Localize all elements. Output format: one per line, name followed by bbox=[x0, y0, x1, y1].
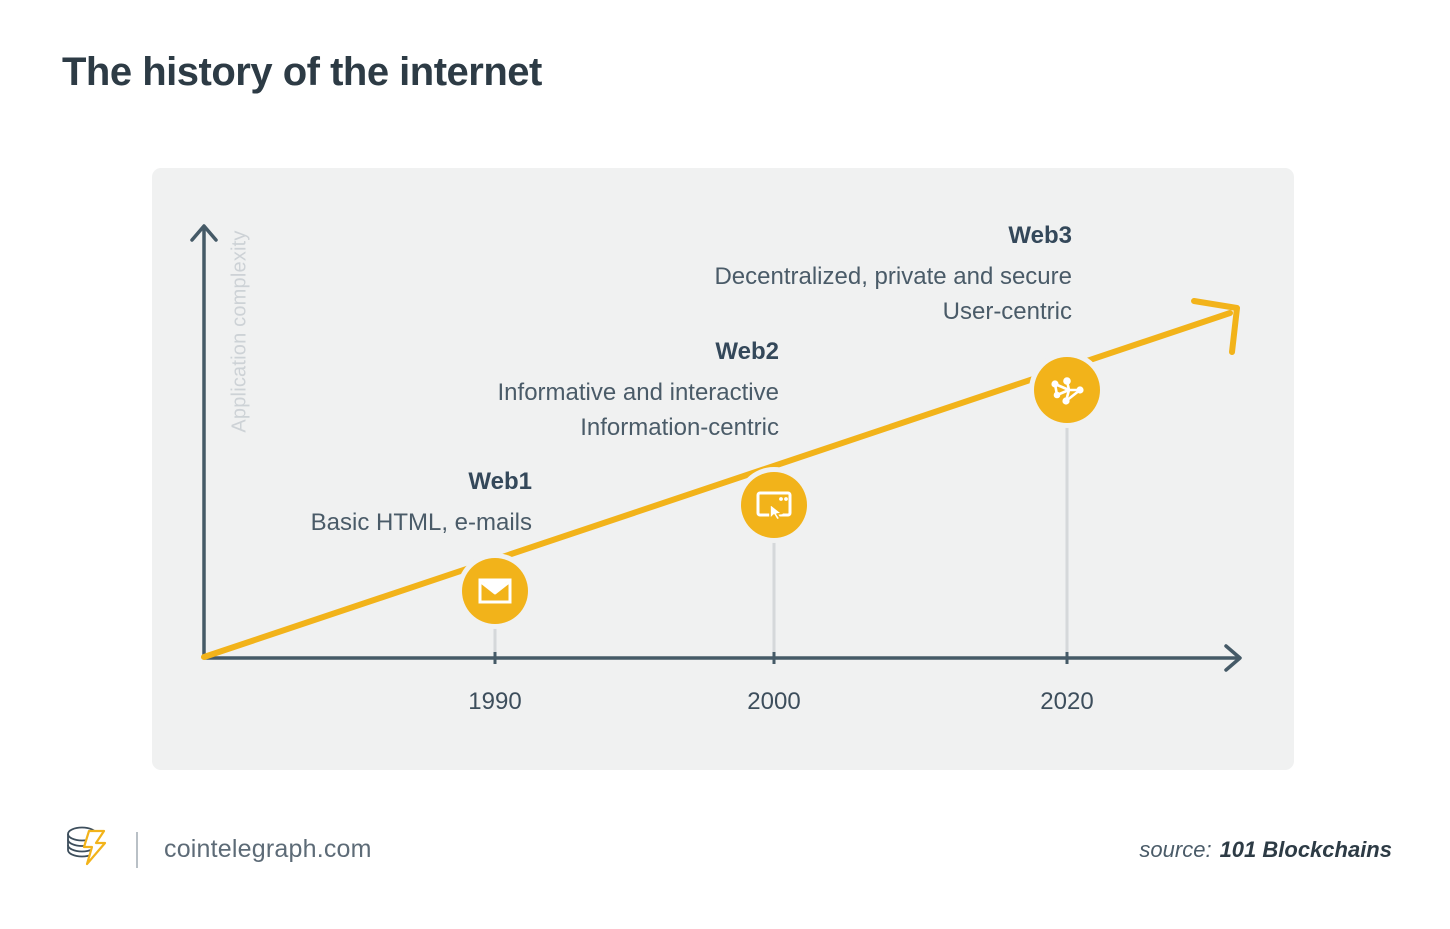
milestone-line-web2-1: Information-centric bbox=[314, 411, 779, 446]
milestone-label-web1: Web1 Basic HTML, e-mails bbox=[92, 468, 532, 541]
milestone-line-web1-0: Basic HTML, e-mails bbox=[92, 506, 532, 541]
milestone-label-web3: Web3 Decentralized, private and secure U… bbox=[552, 222, 1072, 330]
milestone-title-web1: Web1 bbox=[92, 468, 532, 496]
envelope-icon bbox=[478, 578, 512, 604]
x-tick-label-1990: 1990 bbox=[415, 688, 575, 716]
milestone-marker-web3[interactable] bbox=[1034, 357, 1100, 423]
x-tick-label-2000: 2000 bbox=[694, 688, 854, 716]
chart-panel: Application complexity 1990 2000 2020 We… bbox=[152, 168, 1294, 770]
milestone-title-web2: Web2 bbox=[314, 338, 779, 366]
source-label: source: bbox=[1139, 837, 1211, 863]
brand-name[interactable]: cointelegraph.com bbox=[164, 835, 372, 864]
milestone-title-web3: Web3 bbox=[552, 222, 1072, 250]
cointelegraph-logo-icon bbox=[62, 824, 110, 875]
milestone-line-web2-0: Informative and interactive bbox=[314, 376, 779, 411]
source-value: 101 Blockchains bbox=[1220, 837, 1392, 863]
milestone-label-web2: Web2 Informative and interactive Informa… bbox=[314, 338, 779, 446]
network-nodes-icon bbox=[1049, 373, 1085, 407]
browser-cursor-icon bbox=[756, 490, 792, 520]
milestone-marker-web1[interactable] bbox=[462, 558, 528, 624]
milestone-line-web3-1: User-centric bbox=[552, 295, 1072, 330]
milestone-line-web3-0: Decentralized, private and secure bbox=[552, 260, 1072, 295]
brand-divider bbox=[136, 832, 138, 868]
brand-block[interactable]: cointelegraph.com bbox=[62, 812, 372, 887]
y-axis-label: Application complexity bbox=[229, 182, 252, 482]
trend-arrowhead bbox=[1194, 301, 1237, 352]
page-title: The history of the internet bbox=[62, 50, 542, 95]
milestone-marker-web2[interactable] bbox=[741, 472, 807, 538]
source-credit: source: 101 Blockchains bbox=[1139, 812, 1392, 887]
x-tick-label-2020: 2020 bbox=[987, 688, 1147, 716]
footer: cointelegraph.com source: 101 Blockchain… bbox=[0, 812, 1450, 887]
